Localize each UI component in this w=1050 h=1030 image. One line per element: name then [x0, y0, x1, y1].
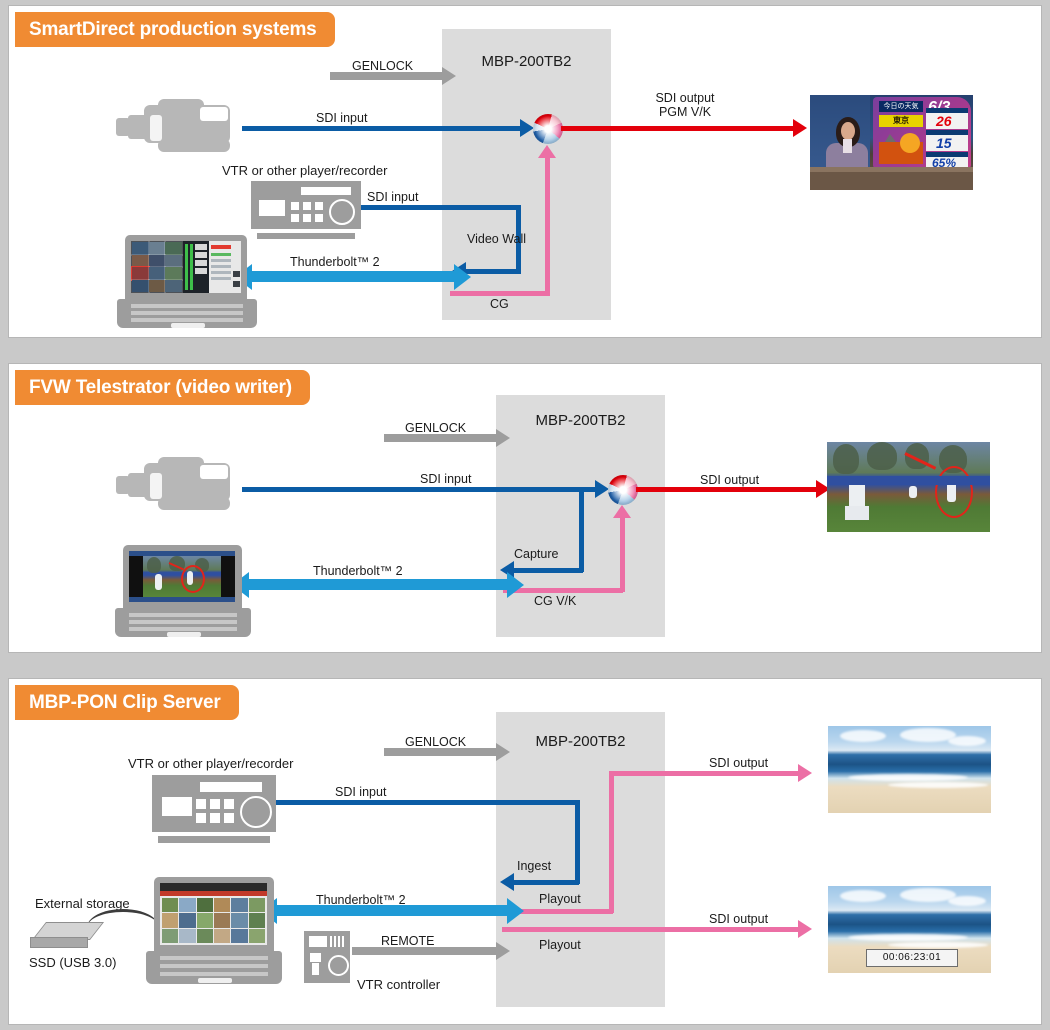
label-genlock-2: GENLOCK [405, 421, 466, 435]
label-thunderbolt-1: Thunderbolt™ 2 [290, 255, 380, 269]
sdi-output-line-1 [561, 126, 799, 131]
genlock-line-1 [330, 72, 442, 80]
label-sdi-output-1-line2: PGM V/K [659, 105, 711, 119]
label-playout-3b: Playout [539, 938, 581, 952]
laptop-icon-1 [117, 235, 257, 328]
thunderbolt-arrow-right-1 [454, 264, 471, 290]
label-sdi-input-3: SDI input [335, 785, 386, 799]
playout1-vline-3 [609, 771, 614, 913]
weather-value-0: 26 [936, 113, 952, 129]
cg-vline-1 [545, 156, 550, 295]
weather-city: 東京 [879, 115, 923, 127]
camera-icon-1 [114, 99, 249, 159]
sdi-output-line-2 [636, 487, 822, 492]
panel-smartdirect: SmartDirect production systems MBP-200TB… [8, 5, 1042, 338]
thunderbolt-bar-2 [249, 579, 507, 590]
thunderbolt-arrow-right-3 [507, 898, 524, 924]
sdi-output-line-3a [609, 771, 804, 776]
telestration-circle [935, 466, 973, 518]
label-sdi-output-1-line1: SDI output [655, 91, 714, 105]
laptop-icon-2 [115, 545, 251, 637]
weather-value-1: 15 [936, 135, 952, 151]
vtr-deck-icon-1 [251, 181, 361, 239]
label-cg-1: CG [490, 297, 509, 311]
remote-line-3 [352, 947, 496, 955]
sdi-output-arrow-1 [793, 119, 807, 137]
label-genlock-1: GENLOCK [352, 59, 413, 73]
sdi-input-line-2 [242, 487, 600, 492]
sdi-input-line-1b [361, 205, 521, 210]
sdi-input-arrow-2 [595, 480, 609, 498]
label-remote-3: REMOTE [381, 934, 434, 948]
sdi-input-line-3 [276, 800, 579, 805]
ingest-hline-3 [514, 880, 579, 885]
diagram-page: SmartDirect production systems MBP-200TB… [0, 0, 1050, 1030]
monitor-weather-1: 6/3 今日の天気 東京 26 15 65% [810, 95, 973, 190]
ingest-arrow-3 [500, 873, 514, 891]
label-videowall-1-text: Video Wall [467, 232, 526, 246]
panel-3-title: MBP-PON Clip Server [15, 685, 239, 720]
thunderbolt-arrow-right-2 [507, 572, 524, 598]
external-storage-icon [29, 922, 103, 952]
laptop-icon-3 [146, 877, 282, 989]
label-ingest-3: Ingest [517, 859, 551, 873]
cg-hline-1 [450, 291, 550, 296]
genlock-arrow-3 [496, 743, 510, 761]
remote-arrow-3 [496, 942, 510, 960]
device-label-2: MBP-200TB2 [496, 412, 665, 429]
label-sdi-input-2: SDI input [420, 472, 471, 486]
ingest-vline-3 [575, 800, 580, 884]
capture-vline-2 [579, 487, 584, 572]
label-sdi-output-2: SDI output [700, 473, 759, 487]
monitor-baseball-2 [827, 442, 990, 532]
camera-icon-2 [114, 457, 249, 517]
cgvk-arrow-2 [613, 505, 631, 518]
weather-title: 今日の天気 [879, 101, 923, 112]
mixer-node-1 [533, 114, 563, 144]
label-sdi-input-1b: SDI input [367, 190, 418, 204]
genlock-line-2 [384, 434, 496, 442]
laptop-screen-3 [160, 883, 267, 945]
genlock-line-3 [384, 748, 496, 756]
label-playout-3a: Playout [539, 892, 581, 906]
sdi-output-arrow-3a [798, 764, 812, 782]
cg-arrow-1 [538, 145, 556, 158]
monitor-beach-bottom: 00:06:23:01 [828, 886, 991, 973]
vtr-deck-icon-3 [152, 775, 276, 843]
playout2-hline-3 [502, 927, 804, 932]
sdi-input-arrow-1a [520, 119, 534, 137]
label-genlock-3: GENLOCK [405, 735, 466, 749]
sdi-input-line-1a [242, 126, 525, 131]
device-label-1: MBP-200TB2 [442, 53, 611, 70]
label-cgvk-2: CG V/K [534, 594, 576, 608]
label-videowall-1: Video Wall [467, 232, 513, 247]
thunderbolt-bar-1 [252, 271, 454, 282]
cgvk-vline-2 [620, 516, 625, 592]
monitor-beach-top [828, 726, 991, 813]
panel-mbp-pon-clip-server: MBP-PON Clip Server MBP-200TB2 VTR or ot… [8, 678, 1042, 1025]
device-label-3: MBP-200TB2 [496, 733, 665, 750]
mixer-node-2 [608, 475, 638, 505]
caption-vtr-controller-3: VTR controller [357, 978, 440, 992]
label-sdi-output-3a: SDI output [709, 756, 768, 770]
caption-ssd-usb: SSD (USB 3.0) [29, 956, 116, 970]
laptop-screen-2 [129, 551, 235, 602]
vtr-controller-icon-3 [304, 931, 350, 983]
label-sdi-input-1a: SDI input [316, 111, 367, 125]
panel-1-title: SmartDirect production systems [15, 12, 335, 47]
genlock-arrow-2 [496, 429, 510, 447]
caption-vtr-1: VTR or other player/recorder [222, 164, 387, 178]
caption-vtr-3: VTR or other player/recorder [128, 757, 293, 771]
label-sdi-output-3b: SDI output [709, 912, 768, 926]
label-capture-2: Capture [514, 547, 558, 561]
label-thunderbolt-2: Thunderbolt™ 2 [313, 564, 403, 578]
thunderbolt-bar-3 [277, 905, 507, 916]
label-sdi-output-1: SDI output PGM V/K [615, 91, 755, 119]
panel-fvw-telestrator: FVW Telestrator (video writer) MBP-200TB… [8, 363, 1042, 653]
timecode-display: 00:06:23:01 [866, 949, 958, 967]
panel-2-title: FVW Telestrator (video writer) [15, 370, 310, 405]
sdi-output-arrow-3b [798, 920, 812, 938]
genlock-arrow-1 [442, 67, 456, 85]
videowall-hline-1 [466, 269, 521, 274]
capture-hline-2 [514, 568, 583, 573]
laptop-screen-1 [131, 241, 241, 293]
